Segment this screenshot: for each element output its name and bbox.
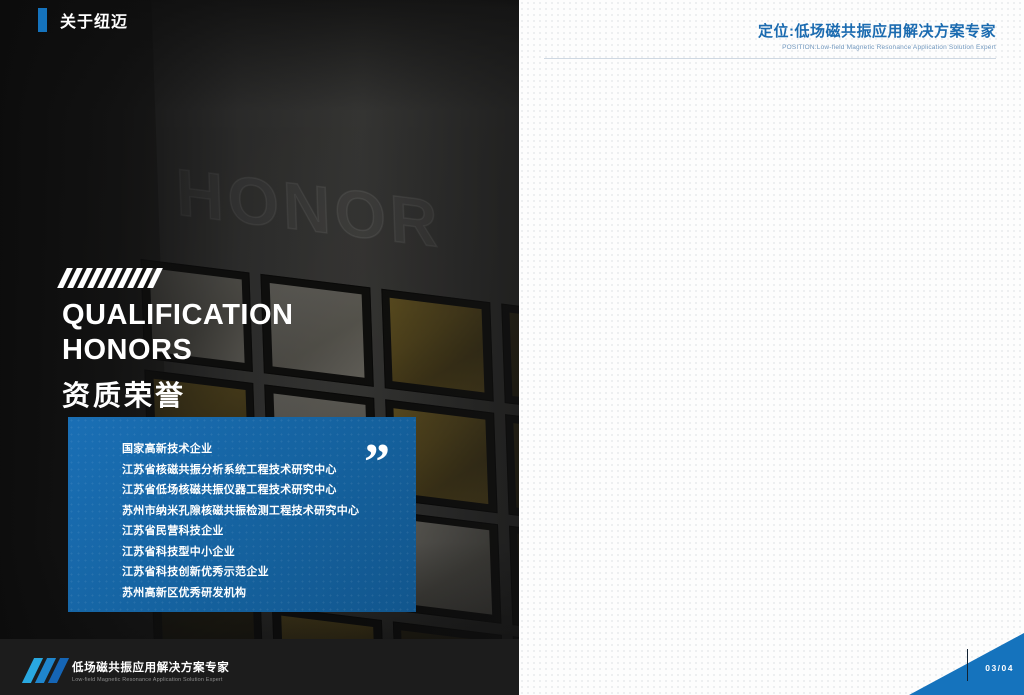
page-number-divider bbox=[967, 649, 969, 681]
section-topbar: 关于纽迈 bbox=[0, 0, 519, 40]
topbar-title: 关于纽迈 bbox=[60, 8, 128, 32]
position-title-cn: 定位:低场磁共振应用解决方案专家 bbox=[758, 20, 996, 41]
list-item: 江苏省民营科技企业 bbox=[122, 521, 416, 542]
topbar-accent-bar bbox=[38, 8, 47, 32]
list-item: 苏州市纳米孔隙核磁共振检测工程技术研究中心 bbox=[122, 501, 416, 522]
slash-decoration-icon bbox=[62, 268, 482, 288]
position-title-en: POSITION:Low-field Magnetic Resonance Ap… bbox=[758, 44, 996, 51]
header-rule bbox=[544, 58, 996, 59]
headline-block: QUALIFICATION HONORS 资质荣誉 bbox=[62, 268, 482, 414]
headline-en-line2: HONORS bbox=[62, 333, 482, 368]
footer-slogan-en: Low-field Magnetic Resonance Application… bbox=[72, 677, 229, 683]
footer-text-block: 低场磁共振应用解决方案专家 Low-field Magnetic Resonan… bbox=[72, 659, 229, 683]
company-logo-icon bbox=[28, 658, 67, 683]
position-header: 定位:低场磁共振应用解决方案专家 POSITION:Low-field Magn… bbox=[758, 20, 996, 51]
right-panel: 定位:低场磁共振应用解决方案专家 POSITION:Low-field Magn… bbox=[519, 0, 1024, 695]
left-panel: HONOR 关于纽 bbox=[0, 0, 519, 695]
page-number: 03/04 bbox=[985, 663, 1014, 673]
quote-mark-icon: ” bbox=[364, 445, 388, 481]
headline-cn: 资质荣誉 bbox=[62, 374, 482, 414]
list-item: 江苏省科技创新优秀示范企业 bbox=[122, 562, 416, 583]
list-item: 苏州高新区优秀研发机构 bbox=[122, 583, 416, 604]
footer-bar: 低场磁共振应用解决方案专家 Low-field Magnetic Resonan… bbox=[0, 639, 519, 695]
honor-list-card: 国家高新技术企业 江苏省核磁共振分析系统工程技术研究中心 江苏省低场核磁共振仪器… bbox=[68, 417, 416, 612]
headline-en-line1: QUALIFICATION bbox=[62, 298, 482, 333]
footer-slogan-cn: 低场磁共振应用解决方案专家 bbox=[72, 659, 229, 675]
list-item: 江苏省科技型中小企业 bbox=[122, 542, 416, 563]
